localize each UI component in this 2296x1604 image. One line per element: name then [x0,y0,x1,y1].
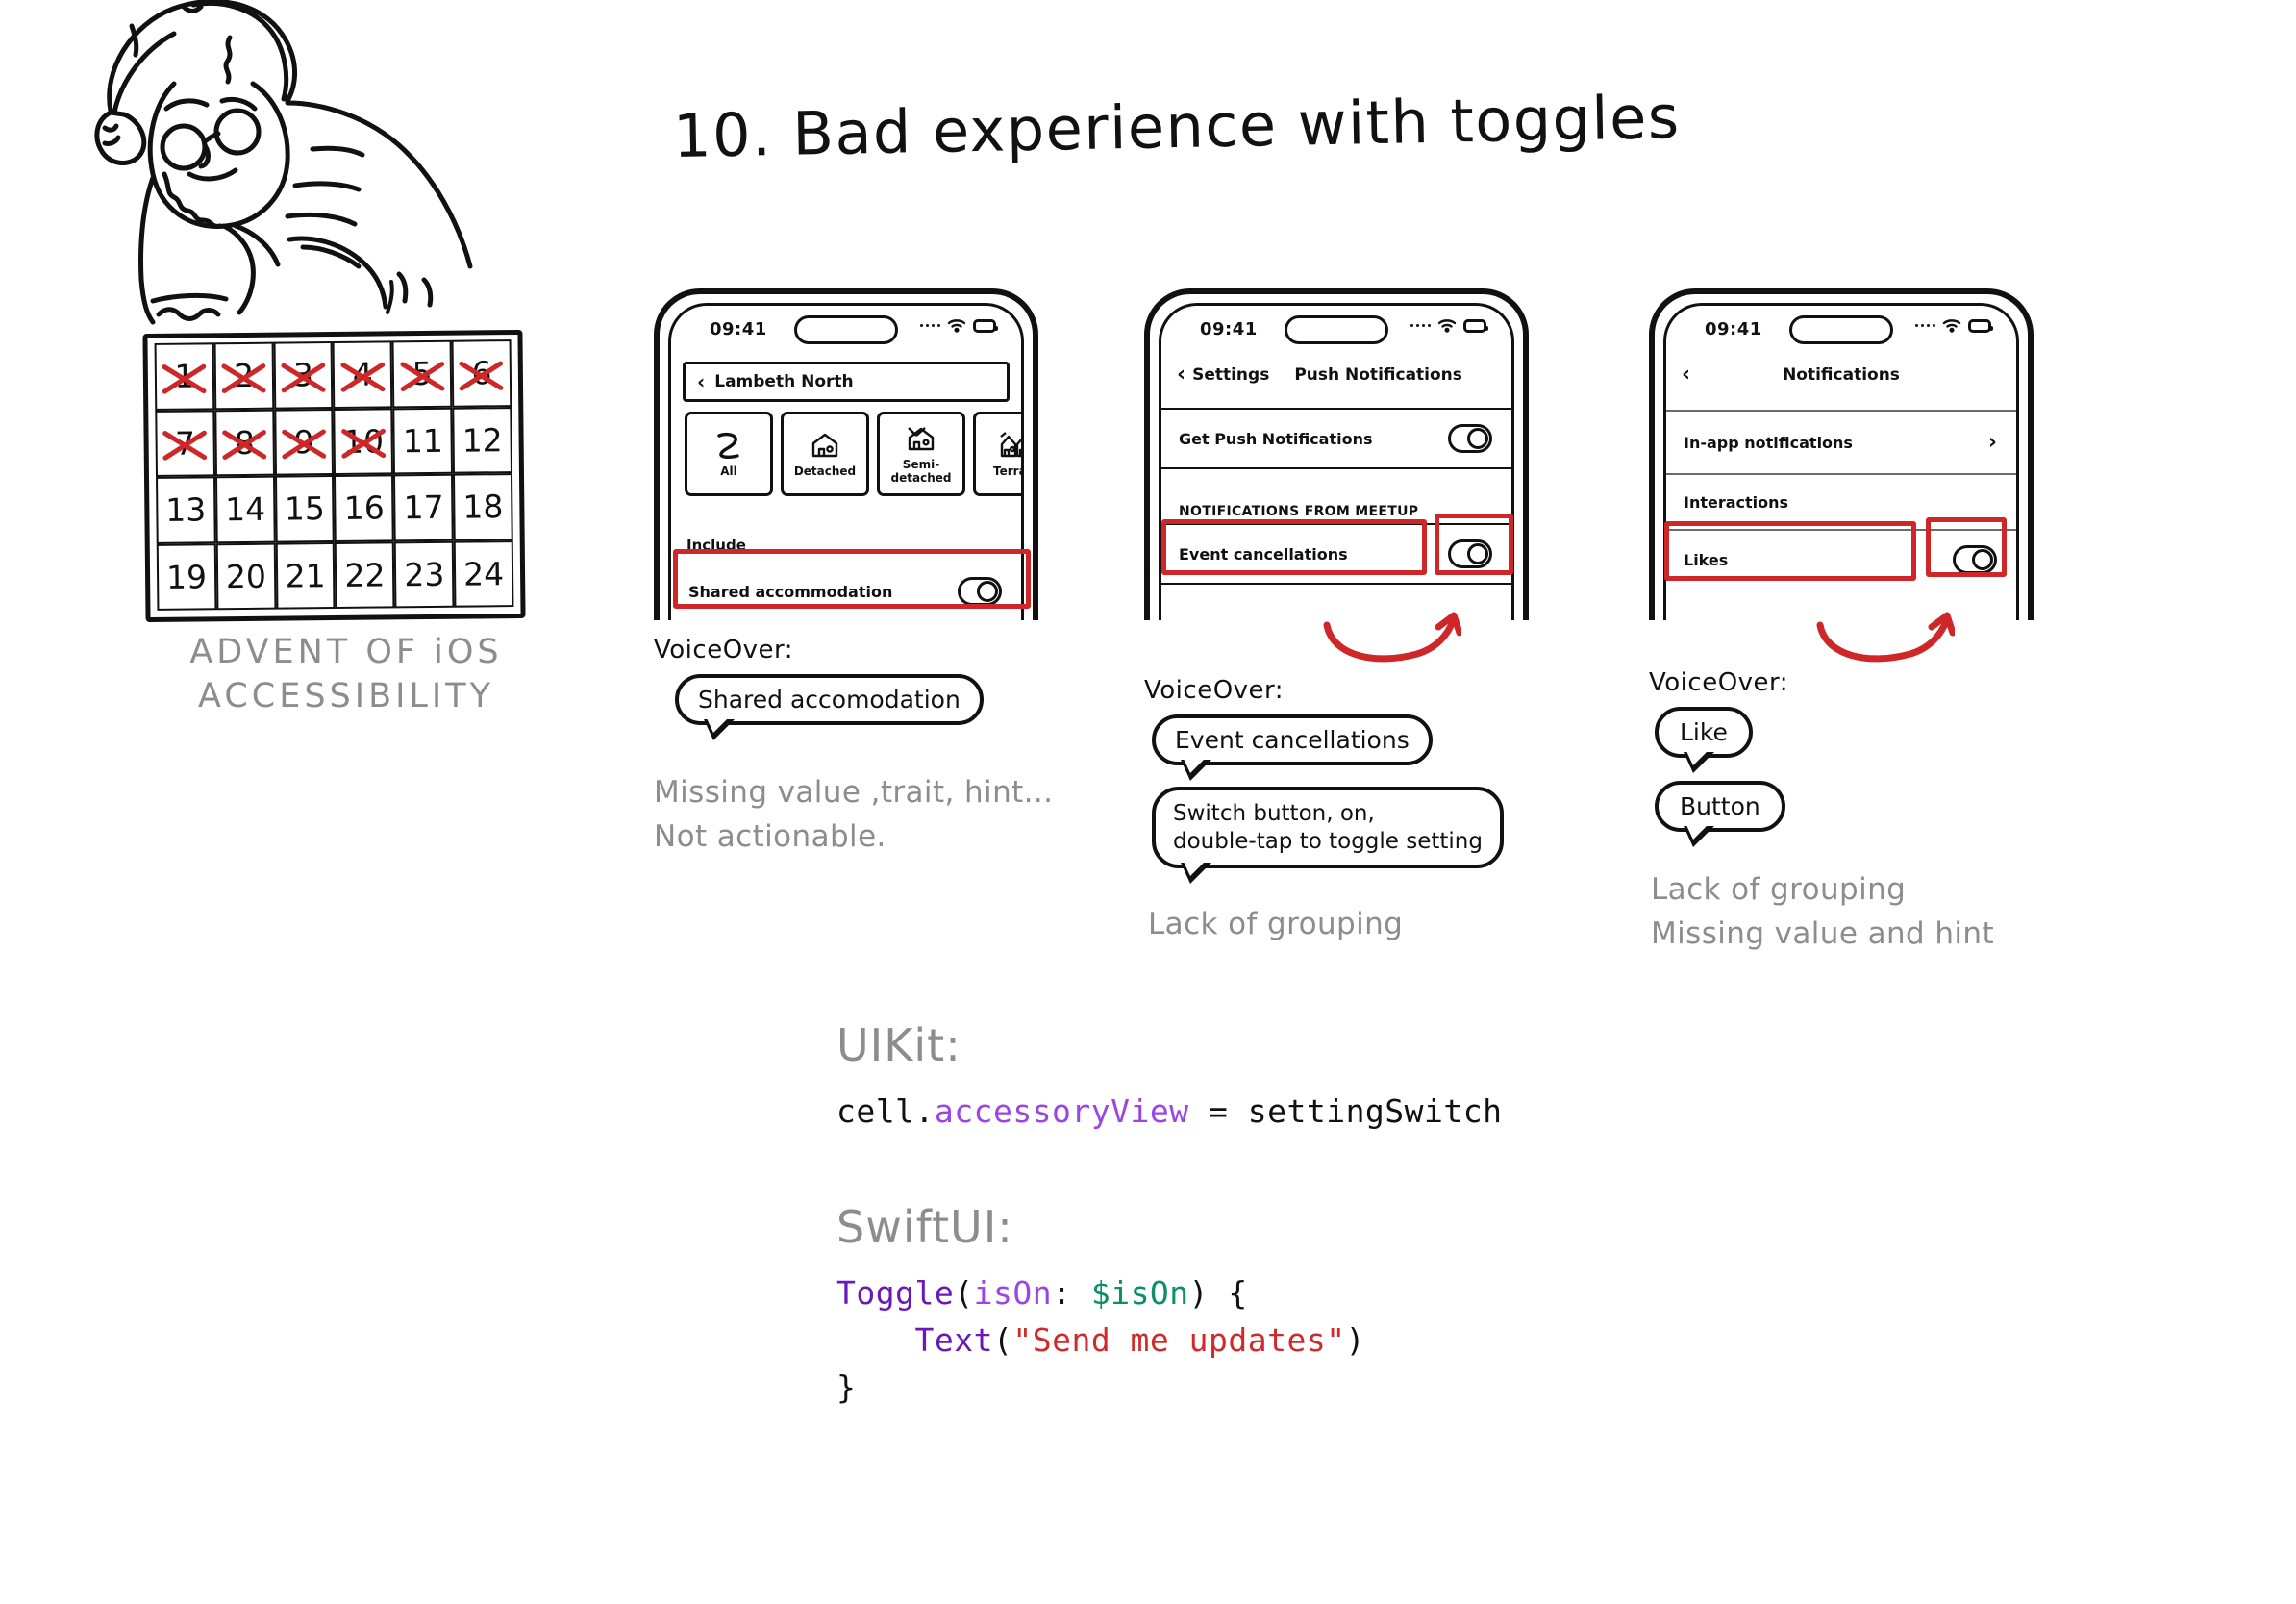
calendar-day-number: 5 [412,355,432,392]
calendar-day-19[interactable]: 19 [157,543,217,611]
section-header-interactions: Interactions [1666,473,2016,529]
section-header-notifications-from-meetup: NOTIFICATIONS FROM MEETUP [1161,467,1511,523]
calendar-day-24[interactable]: 24 [454,540,514,608]
calendar-day-20[interactable]: 20 [216,542,277,610]
nav-bar: ‹ Settings Push Notifications [1161,356,1511,394]
uikit-code-line: cell.accessoryView = settingSwitch [836,1092,1990,1130]
phone-mockup-2: 09:41 ‹ Settings Push Notifications [1144,288,1529,620]
calendar-day-21[interactable]: 21 [275,541,336,609]
row-label: Shared accommodation [688,583,892,601]
swiftui-heading: SwiftUI: [836,1201,1990,1253]
phone-button-volume-up [654,463,655,509]
status-time: 09:41 [710,319,767,339]
battery-icon [1463,319,1486,333]
calendar-day-number: 19 [166,558,207,595]
status-time: 09:41 [1200,319,1258,339]
toggle-shared-accommodation[interactable] [958,577,1002,606]
wifi-icon [947,318,966,333]
calendar-day-13[interactable]: 13 [156,476,216,543]
swiftui-code-line-2: Text("Send me updates") [836,1321,1990,1359]
calendar-grid: 123456789101112131415161718192021222324 [155,339,514,611]
code-token-colon: : [1052,1274,1091,1312]
calendar-day-11[interactable]: 11 [393,407,454,474]
phone-screen-2: 09:41 ‹ Settings Push Notifications [1159,303,1514,620]
calendar-day-number: 6 [471,355,491,392]
note-line-2: Not actionable. [654,815,1067,858]
voiceover-bubble: Switch button, on, double-tap to toggle … [1152,787,1504,868]
toggle-event-cancellations[interactable] [1448,539,1492,568]
calendar-day-10[interactable]: 10 [334,408,394,475]
semi-house-icon [904,422,938,455]
section-header-label: NOTIFICATIONS FROM MEETUP [1179,504,1418,519]
calendar-day-number: 8 [235,424,255,462]
row-label: In-app notifications [1684,434,1853,452]
phone-mockup-1: 09:41 ‹ Lambeth North [654,288,1038,620]
toggle-get-push-notifications[interactable] [1448,424,1492,453]
advent-line-1: ADVENT OF iOS [144,630,548,674]
code-token-ison-label: isOn [974,1274,1052,1312]
phone-button-power [1037,477,1038,542]
phone-button-volume-down [1144,525,1145,571]
chevron-right-icon[interactable]: › [1988,431,1997,455]
calendar-day-number: 16 [344,489,385,527]
code-token-paren: ( [993,1321,1012,1359]
nav-title: Push Notifications [1294,365,1462,385]
nav-back-label[interactable]: Settings [1192,365,1269,385]
signal-dots-icon [1915,324,1936,328]
note-line-1: Missing value ,trait, hint... [654,771,1067,814]
calendar-day-number: 9 [293,423,313,461]
filter-tile-semi-detached[interactable]: Semi- detached [877,412,965,496]
calendar-day-6[interactable]: 6 [452,339,512,407]
chevron-left-icon[interactable]: ‹ [697,372,705,391]
calendar-day-number: 11 [403,422,443,460]
phone-button-power [1528,477,1529,542]
battery-icon [973,319,996,333]
status-bar: 09:41 [671,306,1021,356]
calendar-day-number: 7 [175,424,195,462]
nav-bar: ‹ Notifications [1666,356,2016,394]
calendar-day-number: 23 [404,556,444,593]
calendar-day-2[interactable]: 2 [213,342,274,410]
include-section-label: Include [686,537,1021,554]
toggle-likes[interactable] [1953,545,1997,574]
note-line-1: Lack of grouping [1148,903,1558,945]
status-bar: 09:41 [1666,306,2016,356]
code-token-string: "Send me updates" [1012,1321,1345,1359]
calendar-day-number: 3 [293,356,313,393]
row-event-cancellations[interactable]: Event cancellations [1161,523,1511,583]
page-title: 10. Bad experience with toggles [672,82,1681,171]
voiceover-label: VoiceOver: [654,636,1067,664]
calendar-day-17[interactable]: 17 [393,474,454,541]
note-line-1: Lack of grouping [1651,868,2091,911]
note-line-2: Missing value and hint [1651,913,2091,955]
calendar-day-number: 17 [403,489,443,526]
voiceover-bubble: Button [1655,781,1785,832]
example-property-search: 09:41 ‹ Lambeth North [654,288,1067,858]
code-token-text: Text [914,1321,992,1359]
status-bar: 09:41 [1161,306,1511,356]
calendar-day-number: 4 [353,356,373,393]
calendar-day-number: 14 [225,490,265,528]
filter-tile-label: Semi- detached [880,459,962,486]
status-indicators [920,318,997,333]
calendar-day-23[interactable]: 23 [394,540,455,608]
code-token-assignment: = settingSwitch [1189,1092,1503,1130]
calendar-day-8[interactable]: 8 [214,409,275,476]
code-token-accessoryview: accessoryView [935,1092,1189,1130]
slide-canvas: 123456789101112131415161718192021222324 … [0,0,2296,1604]
voiceover-bubble: Shared accomodation [675,674,984,725]
status-time: 09:41 [1705,319,1762,339]
voiceover-bubble: Like [1655,707,1753,758]
advent-calendar: 123456789101112131415161718192021222324 [144,332,524,620]
row-label: Event cancellations [1179,545,1348,564]
row-in-app-notifications[interactable]: In-app notifications › [1666,410,2016,473]
calendar-day-16[interactable]: 16 [334,474,394,541]
calendar-day-number: 13 [165,491,206,529]
swiftui-code-line-1: Toggle(isOn: $isOn) { [836,1274,1990,1312]
filter-tile-all[interactable]: All [685,412,773,496]
code-indent [836,1321,914,1359]
phone-screen-3: 09:41 ‹ Notifications In-app not [1663,303,2019,620]
calendar-day-number: 12 [462,421,502,459]
phone-button-silent [1144,410,1145,437]
calendar-day-number: 10 [343,422,384,460]
calendar-day-number: 22 [344,556,385,593]
calendar-day-1[interactable]: 1 [155,342,215,410]
code-token-paren: ( [954,1274,973,1312]
filter-tile-label: Terrace [993,465,1024,479]
calendar-day-7[interactable]: 7 [155,410,215,477]
wifi-icon [1437,318,1457,333]
voiceover-bubble: Event cancellations [1152,714,1433,765]
calendar-day-number: 2 [234,357,254,394]
calendar-day-5[interactable]: 5 [392,340,453,408]
uikit-heading: UIKit: [836,1019,1990,1071]
calendar-day-12[interactable]: 12 [452,407,512,474]
row-label: Likes [1684,551,1728,569]
code-token-toggle: Toggle [836,1274,954,1312]
battery-icon [1968,319,1991,333]
chevron-left-icon[interactable]: ‹ [1177,364,1185,386]
santa-illustration [82,0,486,341]
phone-button-volume-down [1649,525,1650,571]
filter-tile-detached[interactable]: Detached [781,412,869,496]
row-likes[interactable]: Likes [1666,529,2016,589]
section-header-label: Interactions [1684,493,1788,512]
calendar-day-22[interactable]: 22 [335,541,395,609]
voiceover-label: VoiceOver: [1144,676,1558,705]
dynamic-island [1285,315,1388,344]
phone-button-volume-up [1144,463,1145,509]
code-token-paren-close: ) [1346,1321,1365,1359]
phone-button-volume-up [1649,463,1650,509]
nav-title: Notifications [1783,365,1900,385]
phone-screen-1: 09:41 ‹ Lambeth North [668,303,1024,620]
dynamic-island [1789,315,1893,344]
phone-button-power [2033,477,2034,542]
terrace-house-icon [998,429,1024,462]
filter-tile-label: Detached [794,465,856,479]
code-token-brace-open: ) { [1189,1274,1248,1312]
code-token-ison-binding: $isOn [1091,1274,1189,1312]
signal-dots-icon [920,324,941,328]
example-push-notifications: 09:41 ‹ Settings Push Notifications [1144,288,1558,945]
status-indicators [1410,318,1487,333]
phone-button-volume-down [654,525,655,571]
phone-button-silent [654,410,655,437]
calendar-day-15[interactable]: 15 [275,475,336,542]
code-section: UIKit: cell.accessoryView = settingSwitc… [836,1019,1990,1406]
code-token-brace-close: } [836,1368,856,1406]
calendar-day-number: 18 [462,488,503,525]
dynamic-island [794,315,898,344]
calendar-day-3[interactable]: 3 [273,341,334,409]
calendar-day-number: 21 [285,557,325,594]
phone-button-silent [1649,410,1650,437]
house-icon [810,429,840,462]
calendar-day-9[interactable]: 9 [274,409,335,476]
voiceover-label: VoiceOver: [1649,668,2091,697]
chevron-left-icon[interactable]: ‹ [1682,364,1690,386]
calendar-day-18[interactable]: 18 [453,473,513,540]
property-type-filters: All Detached [685,412,1021,496]
row-get-push-notifications[interactable]: Get Push Notifications [1161,408,1511,467]
swiftui-code-line-3: } [836,1368,1990,1406]
location-search-box[interactable]: ‹ Lambeth North [683,362,1010,402]
calendar-day-number: 24 [463,555,504,592]
calendar-day-number: 15 [285,489,325,527]
filter-tile-terrace[interactable]: Terrace [973,412,1024,496]
status-indicators [1915,318,1992,333]
wifi-icon [1942,318,1961,333]
row-shared-accommodation[interactable]: Shared accommodation [671,567,1021,615]
calendar-day-4[interactable]: 4 [333,340,393,408]
calendar-day-number: 20 [226,557,266,594]
code-token-cell: cell. [836,1092,935,1130]
row-label: Get Push Notifications [1179,430,1373,448]
calendar-day-14[interactable]: 14 [215,476,276,543]
calendar-day-number: 1 [174,358,194,395]
filter-tile-label: All [720,465,737,479]
advent-branding: ADVENT OF iOS ACCESSIBILITY [144,630,548,718]
phone-mockup-3: 09:41 ‹ Notifications In-app not [1649,288,2034,620]
squiggle-icon [714,429,743,462]
location-label: Lambeth North [714,372,853,391]
example-notifications: 09:41 ‹ Notifications In-app not [1649,288,2091,955]
advent-line-2: ACCESSIBILITY [144,674,548,718]
signal-dots-icon [1410,324,1432,328]
